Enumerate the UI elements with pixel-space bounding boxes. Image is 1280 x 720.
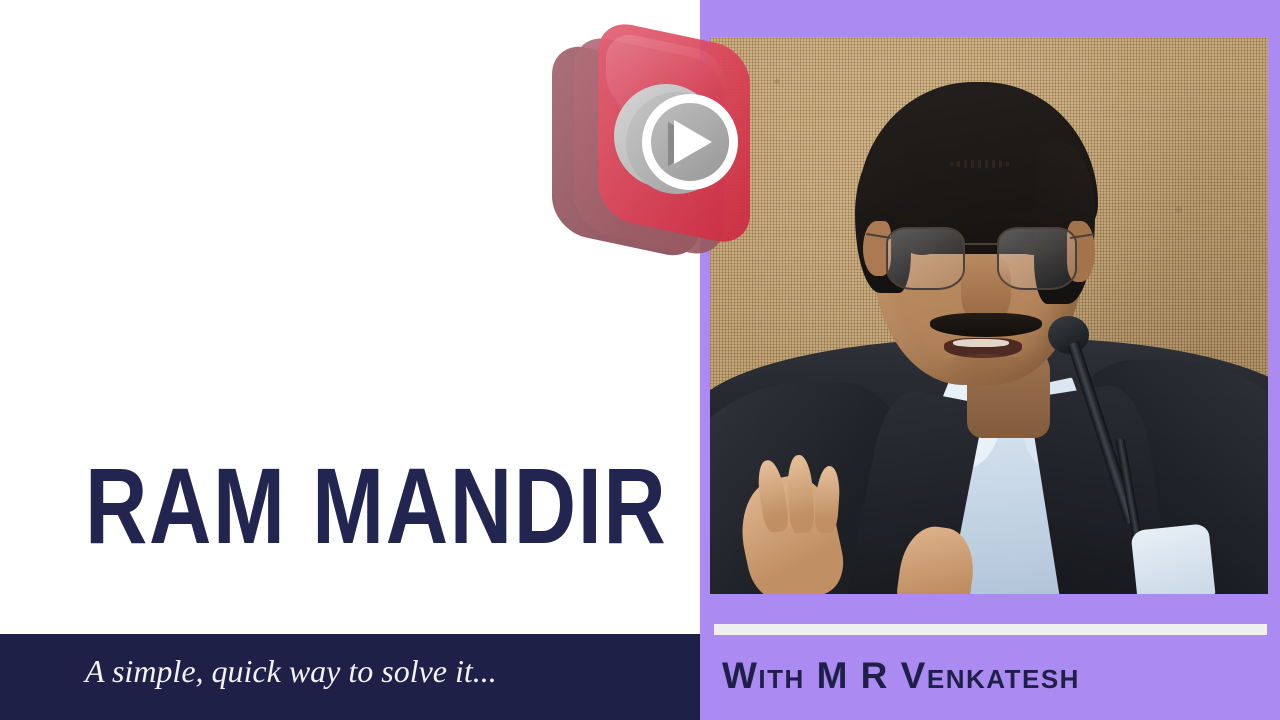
speaker-chin bbox=[933, 354, 1033, 387]
subtitle-bar: A simple, quick way to solve it... bbox=[0, 634, 700, 720]
divider-rule bbox=[714, 624, 1267, 635]
page-title: RAM MANDIR bbox=[85, 452, 565, 560]
eyeglasses-lens-left bbox=[886, 227, 965, 289]
eyeglasses-bridge bbox=[961, 243, 997, 245]
subtitle-text: A simple, quick way to solve it... bbox=[85, 652, 497, 690]
speaker-photo bbox=[710, 37, 1268, 594]
thumbnail-canvas: RAM MANDIR A simple, quick way to solve … bbox=[0, 0, 1280, 720]
speaker-forehead-mark bbox=[950, 160, 1011, 169]
presenter-credit: With M R Venkatesh bbox=[722, 655, 1080, 697]
speaker-shirt-cuff bbox=[1131, 523, 1216, 594]
play-triangle-icon bbox=[674, 120, 712, 164]
play-button-logo[interactable] bbox=[548, 22, 748, 272]
speaker-teeth bbox=[953, 339, 1009, 347]
